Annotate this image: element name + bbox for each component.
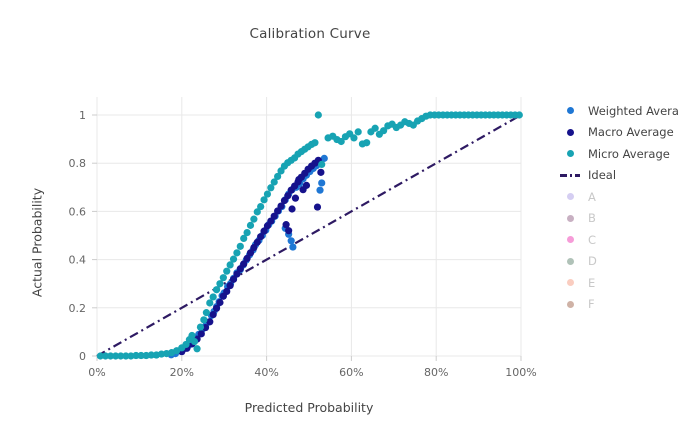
svg-text:0.6: 0.6 xyxy=(69,205,87,218)
chart-legend[interactable]: Weighted AveraMacro AverageMicro Average… xyxy=(560,100,700,315)
legend-item-c[interactable]: C xyxy=(560,229,700,251)
legend-marker-icon xyxy=(560,126,580,138)
svg-text:0: 0 xyxy=(79,350,86,363)
legend-item-label: B xyxy=(588,211,596,225)
legend-marker-icon xyxy=(560,105,580,117)
legend-item-f[interactable]: F xyxy=(560,294,700,316)
legend-marker-icon xyxy=(560,191,580,203)
legend-marker-icon xyxy=(560,234,580,246)
svg-text:80%: 80% xyxy=(424,366,448,379)
svg-text:100%: 100% xyxy=(505,366,536,379)
svg-text:0%: 0% xyxy=(88,366,105,379)
svg-text:0.8: 0.8 xyxy=(69,157,87,170)
legend-item-d[interactable]: D xyxy=(560,251,700,273)
legend-marker-icon xyxy=(560,212,580,224)
grid-lines xyxy=(97,97,521,356)
legend-item-label: D xyxy=(588,254,597,268)
svg-text:0.2: 0.2 xyxy=(69,302,87,315)
scatter-series-3 xyxy=(97,111,523,359)
legend-item-label: Macro Average xyxy=(588,125,674,139)
legend-item-ideal[interactable]: Ideal xyxy=(560,165,700,187)
x-axis-title: Predicted Probability xyxy=(97,400,521,415)
svg-text:40%: 40% xyxy=(254,366,278,379)
legend-item-label: A xyxy=(588,190,596,204)
legend-item-series-3[interactable]: Micro Average xyxy=(560,143,700,165)
svg-text:1: 1 xyxy=(79,109,86,122)
legend-item-label: Weighted Avera xyxy=(588,104,679,118)
legend-marker-icon xyxy=(560,148,580,160)
legend-item-label: F xyxy=(588,297,595,311)
svg-text:0.4: 0.4 xyxy=(69,254,87,267)
svg-text:60%: 60% xyxy=(339,366,363,379)
ideal-reference-line xyxy=(97,115,521,356)
legend-item-label: C xyxy=(588,233,596,247)
legend-marker-icon xyxy=(560,298,580,310)
legend-item-label: E xyxy=(588,276,595,290)
legend-item-label: Micro Average xyxy=(588,147,670,161)
legend-item-label: Ideal xyxy=(588,168,616,182)
legend-item-series-2[interactable]: Macro Average xyxy=(560,122,700,144)
legend-marker-icon xyxy=(560,277,580,289)
legend-marker-icon xyxy=(560,255,580,267)
legend-item-series-1[interactable]: Weighted Avera xyxy=(560,100,700,122)
legend-item-b[interactable]: B xyxy=(560,208,700,230)
legend-item-e[interactable]: E xyxy=(560,272,700,294)
legend-item-a[interactable]: A xyxy=(560,186,700,208)
y-axis-title: Actual Probability xyxy=(30,143,45,343)
calibration-curve-figure: Calibration Curve 0%20%40%60%80%100%00.2… xyxy=(0,0,700,448)
legend-dashdot-line-icon xyxy=(560,169,580,181)
svg-text:20%: 20% xyxy=(170,366,194,379)
